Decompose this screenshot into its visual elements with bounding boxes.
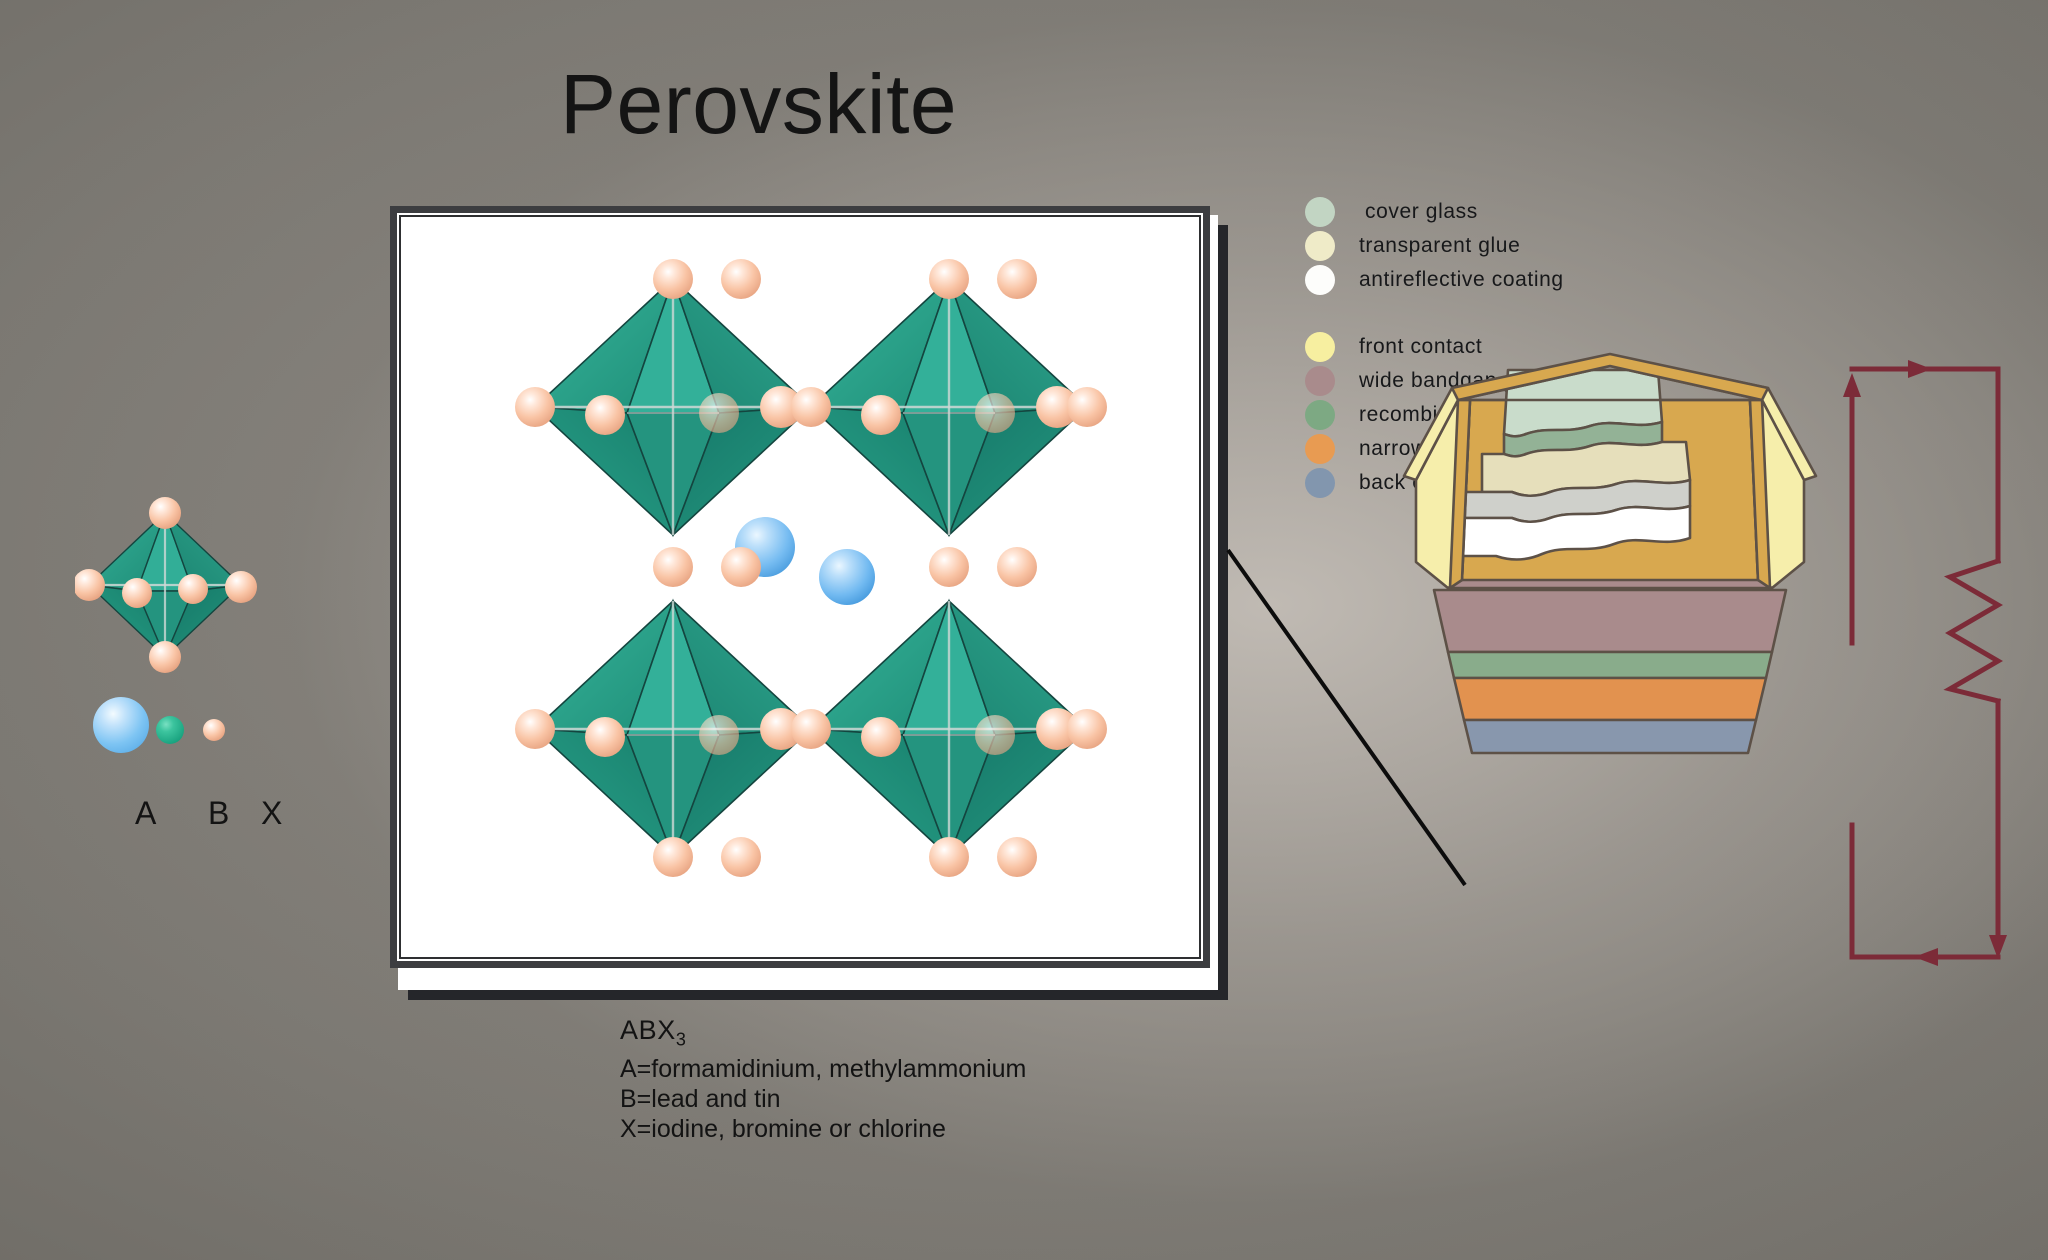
legend-swatch-front-contact — [1305, 332, 1335, 362]
single-octahedron — [75, 497, 257, 673]
current-direction-arrows — [1843, 360, 2007, 966]
diagram-canvas: Perovskite — [0, 0, 2048, 1260]
abx-key-labels: A B X — [75, 795, 375, 845]
legend-label-cover-glass: cover glass — [1365, 200, 1478, 224]
layer-recombination-junction — [1448, 652, 1772, 678]
layer-back-electrode — [1464, 720, 1756, 753]
caption-line-a: A=formamidinium, methylammonium — [620, 1054, 1026, 1084]
abx-label-b: B — [208, 795, 229, 832]
frame-inner-border — [399, 215, 1201, 959]
caption-formula: ABX3 — [620, 1015, 1026, 1054]
legend-swatch-recombination-junction — [1305, 400, 1335, 430]
legend-swatch-wide-bandgap-perovskite — [1305, 366, 1335, 396]
legend-label-transparent-glue: transparent glue — [1359, 234, 1520, 258]
external-circuit — [1810, 355, 2040, 995]
legend-item-antireflective-coating: antireflective coating — [1305, 263, 1725, 297]
abx-label-x: X — [261, 795, 282, 832]
legend-item-cover-glass: cover glass — [1305, 195, 1725, 229]
key-sphere-x — [203, 719, 225, 741]
caption-line-x: X=iodine, bromine or chlorine — [620, 1114, 1026, 1144]
legend-swatch-back-electrode — [1305, 468, 1335, 498]
abx-site-key: A B X — [75, 470, 375, 890]
legend-item-transparent-glue: transparent glue — [1305, 229, 1725, 263]
abx-label-a: A — [135, 795, 156, 832]
layer-wide-bandgap-perovskite — [1434, 590, 1786, 652]
legend-swatch-narrow-bandgap-perovskite — [1305, 434, 1335, 464]
key-sphere-a — [93, 697, 149, 753]
legend-swatch-transparent-glue — [1305, 231, 1335, 261]
formula-caption: ABX3 A=formamidinium, methylammonium B=l… — [620, 1015, 1026, 1144]
caption-line-b: B=lead and tin — [620, 1084, 1026, 1114]
key-sphere-b — [156, 716, 184, 744]
layer-narrow-bandgap-perovskite — [1454, 678, 1766, 720]
page-title: Perovskite — [560, 62, 957, 146]
legend-swatch-cover-glass — [1305, 197, 1335, 227]
legend-label-antireflective-coating: antireflective coating — [1359, 268, 1564, 292]
tandem-solar-cell-stack — [1400, 330, 1820, 760]
crystal-structure-panel — [390, 206, 1210, 968]
legend-group-divider — [1305, 297, 1725, 330]
legend-swatch-antireflective-coating — [1305, 265, 1335, 295]
perovskite-crystal-svg — [401, 217, 1207, 965]
